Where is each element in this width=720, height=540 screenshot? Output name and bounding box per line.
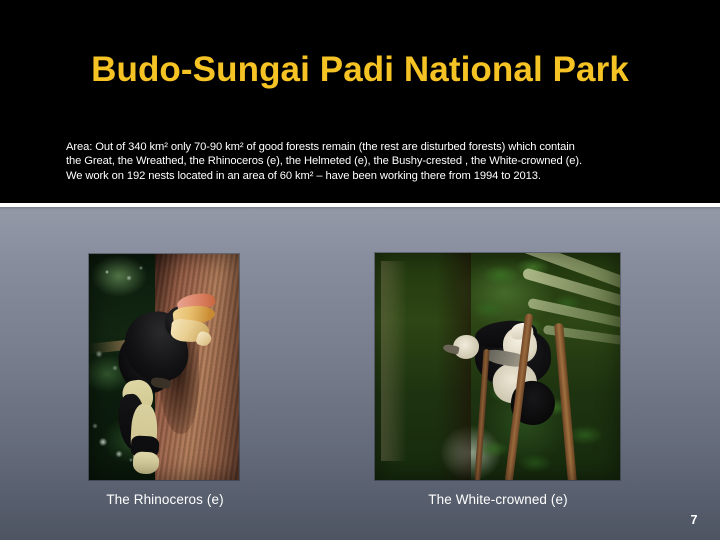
photo-vignette: [89, 254, 239, 480]
photo-caption-white-crowned: The White-crowned (e): [405, 492, 591, 507]
slide-body-text: Area: Out of 340 km² only 70-90 km² of g…: [66, 140, 666, 183]
body-text-line-2: the Great, the Wreathed, the Rhinoceros …: [66, 154, 666, 168]
photo-rhinoceros-hornbill[interactable]: [89, 254, 239, 480]
photo-caption-rhinoceros: The Rhinoceros (e): [92, 492, 238, 507]
body-text-line-3: We work on 192 nests located in an area …: [66, 169, 666, 183]
page-title: Budo-Sungai Padi National Park: [0, 50, 720, 90]
presentation-slide: Budo-Sungai Padi National Park Area: Out…: [0, 0, 720, 540]
photo-vignette: [375, 253, 620, 480]
slide-page-number: 7: [682, 513, 706, 527]
body-text-line-1: Area: Out of 340 km² only 70-90 km² of g…: [66, 140, 666, 154]
photo-white-crowned-hornbill[interactable]: [375, 253, 620, 480]
